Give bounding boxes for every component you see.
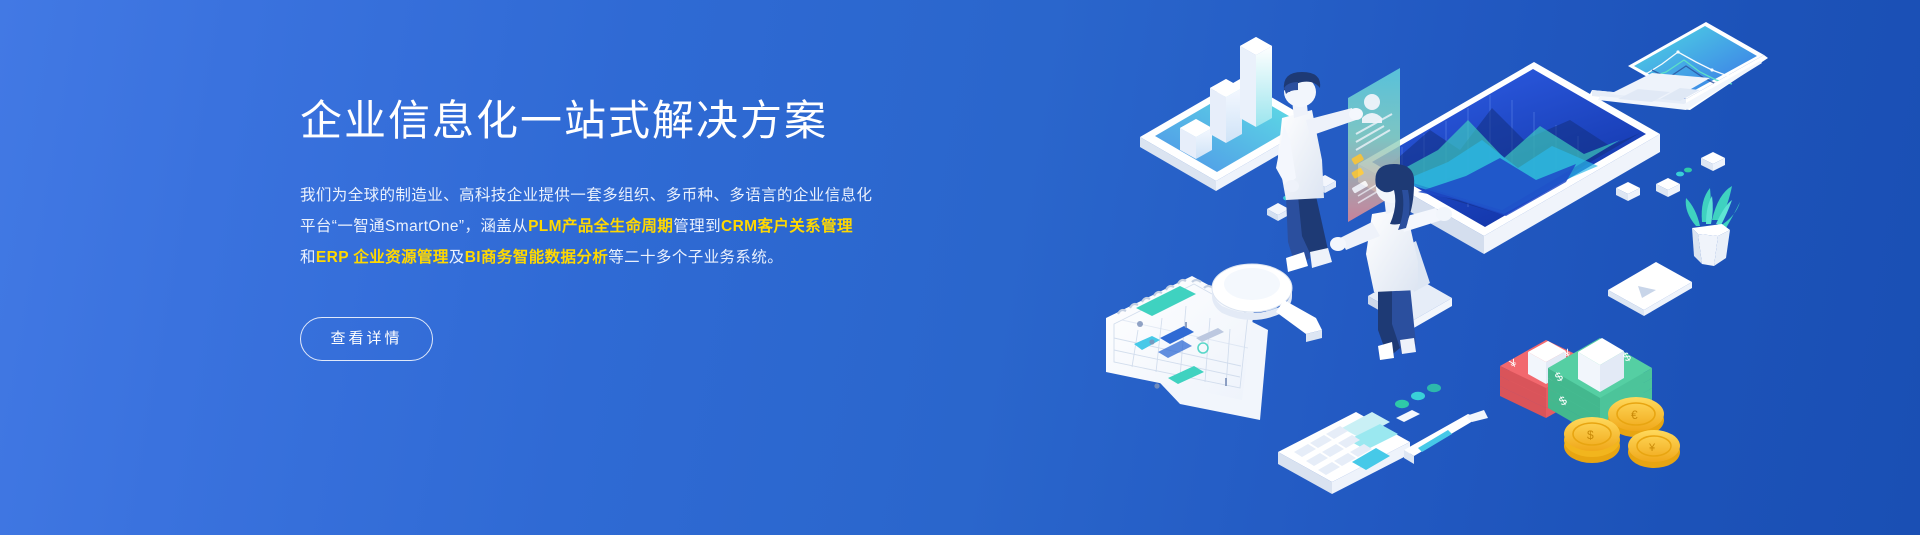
- highlight-erp: ERP 企业资源管理: [316, 249, 449, 266]
- description-line-3-text-b: 及: [449, 249, 465, 266]
- description-line-2-text-a: 平台“一智通SmartOne”，涵盖从: [300, 218, 528, 235]
- isometric-business-analytics-scene: ¥ ¥: [1100, 0, 1800, 535]
- highlight-bi: BI商务智能数据分析: [465, 249, 609, 266]
- highlight-crm: CRM客户关系管理: [721, 218, 853, 235]
- svg-text:$: $: [1587, 428, 1594, 442]
- hero-copy: 企业信息化一站式解决方案 我们为全球的制造业、高科技企业提供一套多组织、多币种、…: [300, 96, 1000, 361]
- description-line-1: 我们为全球的制造业、高科技企业提供一套多组织、多币种、多语言的企业信息化: [300, 180, 972, 211]
- laptop-line-chart: [1588, 22, 1768, 110]
- teal-dots-right: [1395, 384, 1441, 408]
- floating-cube-plant: [1616, 182, 1640, 201]
- floating-cubes-right: [1656, 152, 1725, 197]
- svg-text:¥: ¥: [1648, 442, 1656, 454]
- pen: [1404, 410, 1488, 464]
- potted-plant: [1686, 186, 1740, 266]
- description-line-3-text-a: 和: [300, 249, 316, 266]
- calculator: [1278, 410, 1420, 494]
- description-line-2: 平台“一智通SmartOne”，涵盖从PLM产品全生命周期管理到CRM客户关系管…: [300, 211, 972, 242]
- svg-text:€: €: [1631, 408, 1638, 422]
- highlight-plm: PLM产品全生命周期: [528, 218, 673, 235]
- description-line-2-text-b: 管理到: [673, 218, 721, 235]
- hero-description: 我们为全球的制造业、高科技企业提供一套多组织、多币种、多语言的企业信息化 平台“…: [300, 180, 972, 273]
- description-line-3: 和ERP 企业资源管理及BI商务智能数据分析等二十多个子业务系统。: [300, 242, 972, 273]
- play-card: [1608, 262, 1692, 316]
- description-line-3-text-c: 等二十多个子业务系统。: [608, 249, 783, 266]
- hero-banner: ¥ ¥: [0, 0, 1920, 535]
- page-title: 企业信息化一站式解决方案: [300, 96, 1000, 146]
- view-details-button[interactable]: 查看详情: [300, 317, 433, 361]
